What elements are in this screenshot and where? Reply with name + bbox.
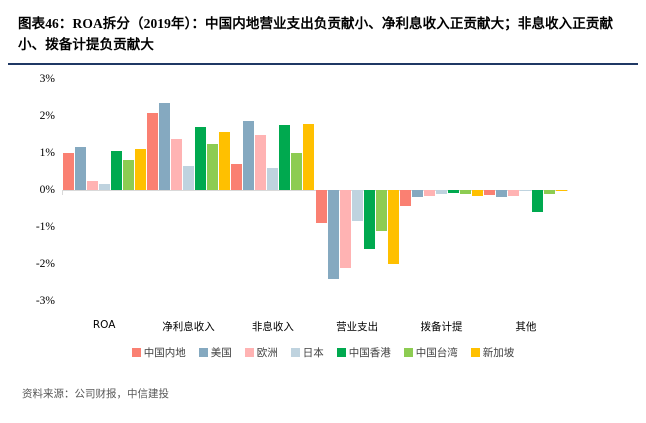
- bar-slot: [400, 79, 411, 301]
- bar-中国香港-ROA[interactable]: [111, 151, 122, 190]
- legend-color-swatch: [132, 348, 141, 357]
- bar-slot: [316, 79, 327, 301]
- bar-中国香港-其他[interactable]: [532, 190, 543, 212]
- legend-item-label: 中国台湾: [416, 345, 458, 360]
- legend-item-label: 欧洲: [257, 345, 278, 360]
- bar-slot: [123, 79, 134, 301]
- bar-group: [62, 79, 146, 301]
- legend-color-swatch: [404, 348, 413, 357]
- bar-美国-净利息收入[interactable]: [159, 103, 170, 190]
- bar-新加坡-拨备计提[interactable]: [472, 190, 483, 196]
- bar-slot: [135, 79, 146, 301]
- bar-group: [146, 79, 230, 301]
- x-axis-label-其他: 其他: [515, 319, 536, 334]
- bar-中国香港-营业支出[interactable]: [364, 190, 375, 249]
- bar-中国台湾-非息收入[interactable]: [291, 153, 302, 190]
- chart-figure: 3%2%1%0%-1%-2%-3%ROA净利息收入非息收入营业支出拨备计提其他: [0, 71, 646, 321]
- bar-slot: [255, 79, 266, 301]
- legend-item-label: 中国香港: [349, 345, 391, 360]
- bar-中国内地-ROA[interactable]: [63, 153, 74, 190]
- bar-slot: [436, 79, 447, 301]
- bar-slot: [219, 79, 230, 301]
- plot-area: 3%2%1%0%-1%-2%-3%ROA净利息收入非息收入营业支出拨备计提其他: [62, 79, 568, 301]
- bar-日本-ROA[interactable]: [99, 184, 110, 190]
- bar-slot: [195, 79, 206, 301]
- bar-日本-净利息收入[interactable]: [183, 166, 194, 190]
- bar-slot: [376, 79, 387, 301]
- bar-slot: [243, 79, 254, 301]
- bar-slot: [508, 79, 519, 301]
- bar-slot: [544, 79, 555, 301]
- bar-中国香港-拨备计提[interactable]: [448, 190, 459, 193]
- bar-slot: [328, 79, 339, 301]
- bar-slot: [75, 79, 86, 301]
- legend-item-中国内地[interactable]: 中国内地: [132, 345, 186, 360]
- bar-slot: [460, 79, 471, 301]
- bar-中国内地-拨备计提[interactable]: [400, 190, 411, 207]
- bar-slot: [303, 79, 314, 301]
- bar-slot: [279, 79, 290, 301]
- legend-item-日本[interactable]: 日本: [291, 345, 324, 360]
- chart-legend: 中国内地美国欧洲日本中国香港中国台湾新加坡: [0, 345, 646, 360]
- bar-slot: [520, 79, 531, 301]
- legend-item-中国香港[interactable]: 中国香港: [337, 345, 391, 360]
- x-axis-label-ROA: ROA: [93, 319, 116, 331]
- bar-slot: [412, 79, 423, 301]
- bar-group: [231, 79, 315, 301]
- bar-slot: [87, 79, 98, 301]
- bar-slot: [231, 79, 242, 301]
- legend-color-swatch: [199, 348, 208, 357]
- bar-group: [484, 79, 568, 301]
- y-axis-tick-label: 3%: [40, 73, 55, 85]
- bar-中国内地-净利息收入[interactable]: [147, 113, 158, 190]
- bar-slot: [352, 79, 363, 301]
- bar-slot: [63, 79, 74, 301]
- source-note: 资料来源：公司财报，中信建投: [22, 386, 169, 401]
- y-axis-tick-label: -1%: [36, 221, 55, 233]
- bar-slot: [484, 79, 495, 301]
- bar-美国-拨备计提[interactable]: [412, 190, 423, 197]
- bar-新加坡-ROA[interactable]: [135, 149, 146, 190]
- legend-color-swatch: [471, 348, 480, 357]
- bar-slot: [171, 79, 182, 301]
- bar-中国香港-净利息收入[interactable]: [195, 127, 206, 190]
- bar-中国台湾-其他[interactable]: [544, 190, 555, 194]
- bar-欧洲-其他[interactable]: [508, 190, 519, 196]
- bar-新加坡-净利息收入[interactable]: [219, 132, 230, 189]
- bar-中国内地-其他[interactable]: [484, 190, 495, 196]
- legend-item-欧洲[interactable]: 欧洲: [245, 345, 278, 360]
- bar-日本-其他[interactable]: [520, 190, 531, 191]
- legend-color-swatch: [245, 348, 254, 357]
- legend-item-美国[interactable]: 美国: [199, 345, 232, 360]
- bar-中国香港-非息收入[interactable]: [279, 125, 290, 190]
- bar-欧洲-营业支出[interactable]: [340, 190, 351, 268]
- bar-美国-其他[interactable]: [496, 190, 507, 197]
- bar-slot: [207, 79, 218, 301]
- bar-欧洲-ROA[interactable]: [87, 181, 98, 190]
- bar-slot: [496, 79, 507, 301]
- bar-slot: [159, 79, 170, 301]
- title-divider: [8, 63, 638, 65]
- bar-新加坡-其他[interactable]: [556, 190, 567, 191]
- x-axis-label-净利息收入: 净利息收入: [162, 319, 215, 334]
- y-axis-tick-label: -3%: [36, 295, 55, 307]
- page-title: 图表46：ROA拆分（2019年）：中国内地营业支出负贡献小、净利息收入正贡献大…: [18, 14, 630, 56]
- bar-slot: [472, 79, 483, 301]
- legend-item-label: 美国: [211, 345, 232, 360]
- bar-美国-营业支出[interactable]: [328, 190, 339, 279]
- legend-item-中国台湾[interactable]: 中国台湾: [404, 345, 458, 360]
- legend-color-swatch: [337, 348, 346, 357]
- bar-slot: [424, 79, 435, 301]
- bar-欧洲-拨备计提[interactable]: [424, 190, 435, 196]
- legend-item-label: 日本: [303, 345, 324, 360]
- title-block: 图表46：ROA拆分（2019年）：中国内地营业支出负贡献小、净利息收入正贡献大…: [0, 0, 646, 56]
- bar-中国台湾-净利息收入[interactable]: [207, 144, 218, 190]
- bar-欧洲-净利息收入[interactable]: [171, 139, 182, 190]
- x-axis-label-非息收入: 非息收入: [252, 319, 294, 334]
- legend-color-swatch: [291, 348, 300, 357]
- x-axis-label-营业支出: 营业支出: [336, 319, 378, 334]
- bar-日本-营业支出[interactable]: [352, 190, 363, 221]
- bar-中国内地-非息收入[interactable]: [231, 164, 242, 190]
- bar-slot: [147, 79, 158, 301]
- legend-item-label: 新加坡: [483, 345, 515, 360]
- bar-slot: [340, 79, 351, 301]
- bar-slot: [532, 79, 543, 301]
- bar-slot: [388, 79, 399, 301]
- bar-欧洲-非息收入[interactable]: [255, 135, 266, 190]
- bar-新加坡-非息收入[interactable]: [303, 124, 314, 190]
- y-axis-tick-label: 1%: [40, 147, 55, 159]
- bar-slot: [267, 79, 278, 301]
- bar-中国台湾-营业支出[interactable]: [376, 190, 387, 231]
- bar-美国-非息收入[interactable]: [243, 121, 254, 189]
- y-axis-tick-label: -2%: [36, 258, 55, 270]
- y-axis-tick-label: 0%: [40, 184, 55, 196]
- y-axis-tick-label: 2%: [40, 110, 55, 122]
- bar-group: [315, 79, 399, 301]
- bar-日本-非息收入[interactable]: [267, 168, 278, 189]
- bar-slot: [183, 79, 194, 301]
- bar-中国内地-营业支出[interactable]: [316, 190, 327, 223]
- bar-slot: [448, 79, 459, 301]
- bar-slot: [364, 79, 375, 301]
- bar-slot: [291, 79, 302, 301]
- bar-新加坡-营业支出[interactable]: [388, 190, 399, 264]
- bar-group: [399, 79, 483, 301]
- bar-中国台湾-ROA[interactable]: [123, 160, 134, 190]
- bar-slot: [99, 79, 110, 301]
- x-axis-label-拨备计提: 拨备计提: [421, 319, 463, 334]
- legend-item-label: 中国内地: [144, 345, 186, 360]
- bar-slot: [111, 79, 122, 301]
- bar-日本-拨备计提[interactable]: [436, 190, 447, 194]
- bar-slot: [556, 79, 567, 301]
- bar-美国-ROA[interactable]: [75, 147, 86, 190]
- legend-item-新加坡[interactable]: 新加坡: [471, 345, 515, 360]
- bar-中国台湾-拨备计提[interactable]: [460, 190, 471, 194]
